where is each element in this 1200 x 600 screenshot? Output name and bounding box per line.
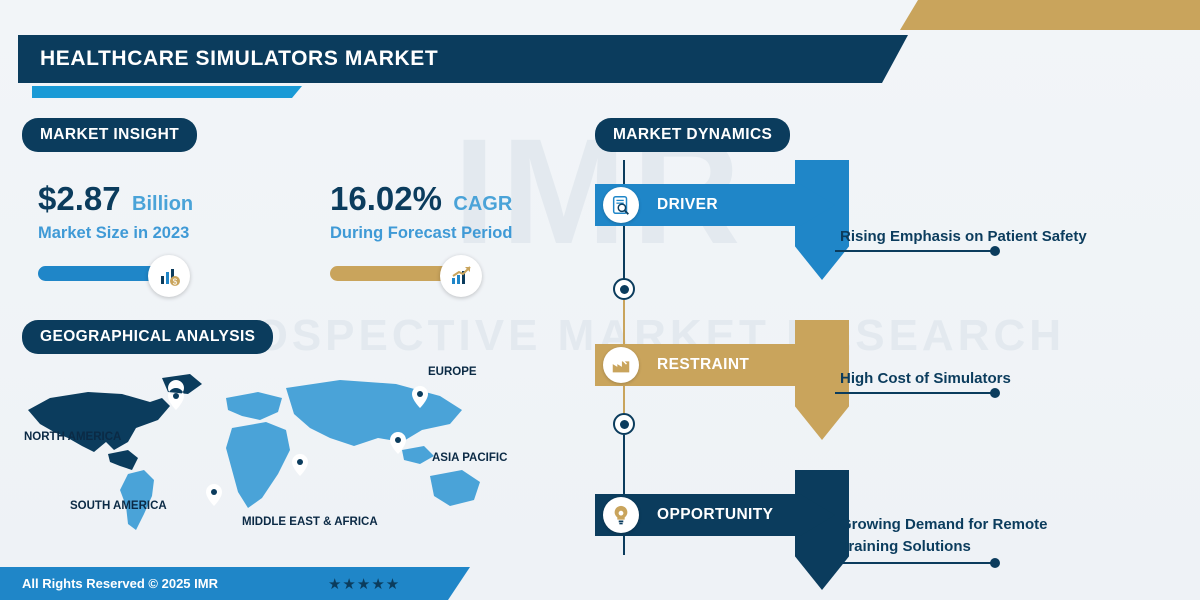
timeline-node-1 xyxy=(613,278,635,300)
driver-text: Rising Emphasis on Patient Safety xyxy=(840,226,1087,248)
growth-arrow-icon xyxy=(440,255,482,297)
stat-market-size-unit: Billion xyxy=(132,193,193,216)
opportunity-connector xyxy=(835,562,995,564)
dynamic-row-restraint: RESTRAINT High Cost of Simulators xyxy=(595,320,1185,440)
stat-market-size-bar xyxy=(38,266,166,281)
lightbulb-idea-icon xyxy=(603,497,639,533)
driver-label: DRIVER xyxy=(657,196,718,214)
stat-market-size-barrow: $ xyxy=(38,259,268,303)
stat-cagr-bar xyxy=(330,266,458,281)
footer-copyright: All Rights Reserved © 2025 IMR xyxy=(0,576,218,591)
opportunity-label: OPPORTUNITY xyxy=(657,506,773,524)
map-label-north-america: NORTH AMERICA xyxy=(24,431,121,443)
bar-chart-dollar-icon: $ xyxy=(148,255,190,297)
page-title-text: HEALTHCARE SIMULATORS MARKET xyxy=(18,47,438,71)
map-label-asia-pacific: ASIA PACIFIC xyxy=(432,452,507,464)
svg-text:$: $ xyxy=(173,278,178,287)
page-title: HEALTHCARE SIMULATORS MARKET xyxy=(18,35,908,83)
map-label-south-america: SOUTH AMERICA xyxy=(70,500,167,512)
stat-cagr-value: 16.02% xyxy=(330,180,442,218)
factory-decline-icon xyxy=(603,347,639,383)
stat-market-size-value: $2.87 xyxy=(38,180,121,218)
section-heading-market-dynamics: MARKET DYNAMICS xyxy=(595,118,790,152)
stat-cagr-caption: During Forecast Period xyxy=(330,224,560,243)
market-dynamics-panel: DRIVER Rising Emphasis on Patient Safety xyxy=(595,160,1185,580)
stat-cagr: 16.02% CAGR During Forecast Period xyxy=(330,180,560,303)
section-heading-geographical-analysis: GEOGRAPHICAL ANALYSIS xyxy=(22,320,273,354)
dynamic-row-driver: DRIVER Rising Emphasis on Patient Safety xyxy=(595,160,1185,280)
stat-market-size-caption: Market Size in 2023 xyxy=(38,224,268,243)
driver-connector xyxy=(835,250,995,252)
opportunity-text: Growing Demand for Remote Training Solut… xyxy=(840,514,1048,558)
map-label-europe: EUROPE xyxy=(428,366,477,378)
section-heading-market-insight: MARKET INSIGHT xyxy=(22,118,197,152)
stat-cagr-barrow xyxy=(330,259,560,303)
top-gold-accent xyxy=(900,0,1200,30)
restraint-label: RESTRAINT xyxy=(657,356,749,374)
restraint-connector xyxy=(835,392,995,394)
footer-stars: ★★★★★ xyxy=(328,575,400,593)
document-search-icon xyxy=(603,187,639,223)
footer: All Rights Reserved © 2025 IMR ★★★★★ xyxy=(0,567,470,600)
stat-market-size: $2.87 Billion Market Size in 2023 $ xyxy=(38,180,268,303)
title-underbar xyxy=(32,86,302,98)
restraint-text: High Cost of Simulators xyxy=(840,368,1011,390)
world-map: EUROPE NORTH AMERICA ASIA PACIFIC SOUTH … xyxy=(10,358,530,543)
infographic-root: IMR INTROSPECTIVE MARKET RESEARCH HEALTH… xyxy=(0,0,1200,600)
dynamic-row-opportunity: OPPORTUNITY Growing Demand for Remote Tr… xyxy=(595,470,1185,590)
opportunity-connector-dot xyxy=(990,558,1000,568)
stat-cagr-unit: CAGR xyxy=(453,193,512,216)
map-label-middle-east-africa: MIDDLE EAST & AFRICA xyxy=(242,516,378,528)
